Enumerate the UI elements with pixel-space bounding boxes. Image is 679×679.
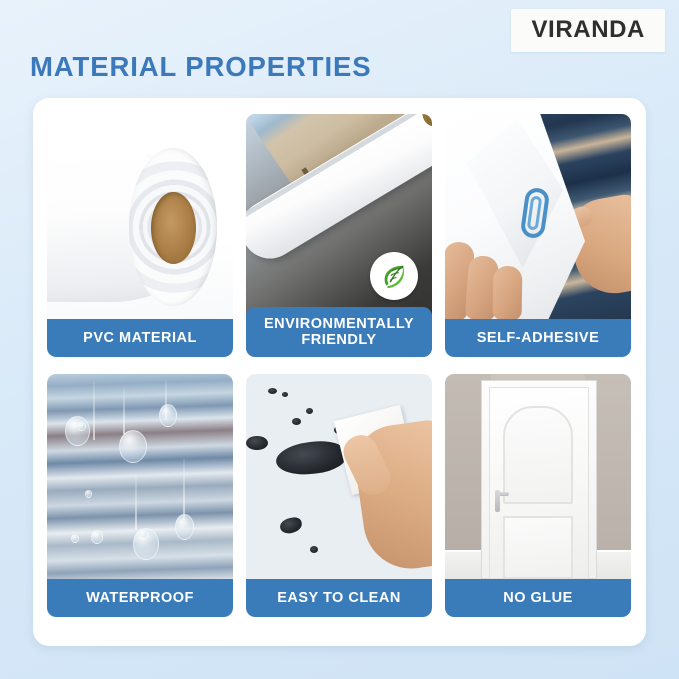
card-label-line-1: ENVIRONMENTALLY: [264, 316, 414, 332]
water-droplet: [65, 416, 90, 446]
header: VIRANDA MATERIAL PROPERTIES: [0, 0, 679, 98]
feature-panel: PVC MATERIAL: [33, 98, 646, 646]
card-label-waterproof: WATERPROOF: [47, 579, 233, 617]
eco-leaf-badge: [370, 252, 418, 300]
brand-logo: VIRANDA: [511, 9, 665, 52]
feature-card-no-glue[interactable]: NO GLUE: [445, 374, 631, 617]
card-label-easy-to-clean: EASY TO CLEAN: [246, 579, 432, 617]
feature-grid: PVC MATERIAL: [47, 114, 632, 617]
infographic-poster: VIRANDA MATERIAL PROPERTIES PVC MATERIAL: [0, 0, 679, 679]
leaf-icon: [379, 261, 409, 291]
feature-card-easy-to-clean[interactable]: EASY TO CLEAN: [246, 374, 432, 617]
card-label-self-adhesive: SELF-ADHESIVE: [445, 319, 631, 357]
page-title: MATERIAL PROPERTIES: [30, 51, 372, 83]
feature-card-waterproof[interactable]: WATERPROOF: [47, 374, 233, 617]
card-label-pvc-material: PVC MATERIAL: [47, 319, 233, 357]
card-label-no-glue: NO GLUE: [445, 579, 631, 617]
card-label-environmentally-friendly: ENVIRONMENTALLY FRIENDLY: [246, 307, 432, 357]
feature-card-environmentally-friendly[interactable]: ENVIRONMENTALLY FRIENDLY: [246, 114, 432, 357]
feature-card-pvc-material[interactable]: PVC MATERIAL: [47, 114, 233, 357]
stain-mark: [268, 388, 277, 394]
brand-name: VIRANDA: [531, 18, 645, 42]
feature-card-self-adhesive[interactable]: SELF-ADHESIVE: [445, 114, 631, 357]
pvc-cardboard-core: [151, 192, 196, 264]
card-label-line-2: FRIENDLY: [301, 332, 376, 348]
